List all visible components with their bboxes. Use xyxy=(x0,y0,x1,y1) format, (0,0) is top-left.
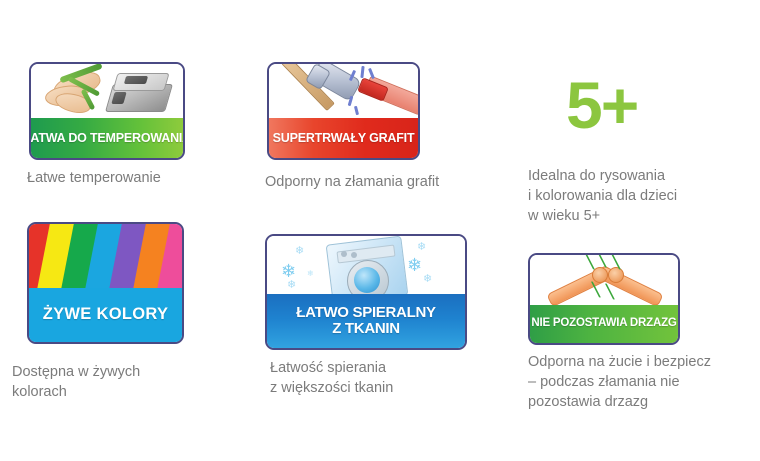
broken-pencil-icon: ╲ ╲ ╲ ╲ ╲ xyxy=(530,255,678,305)
badge-no-splinters: ╲ ╲ ╲ ╲ ╲ NIE POZOSTAWIA DRZAZG xyxy=(528,253,680,345)
caption-easy-sharpening: Łatwe temperowanie xyxy=(27,168,161,188)
badge-band: NIE POZOSTAWIA DRZAZG xyxy=(530,305,678,343)
badge-band: SUPERTRWAŁY GRAFIT xyxy=(269,118,418,158)
feature-badges-panel: ŁATWA DO TEMPEROWANIA Łatwe temperowanie… xyxy=(0,0,760,461)
badge-vivid-colors: ŻYWE KOLORY xyxy=(27,222,184,344)
caption-washable-from-fabric: Łatwość spierania z większości tkanin xyxy=(270,358,393,398)
badge-band: ŁATWA DO TEMPEROWANIA xyxy=(31,118,183,158)
age-5-plus-icon: 5+ xyxy=(566,72,637,138)
caption-vivid-colors: Dostępna w żywych kolorach xyxy=(12,362,140,402)
badge-band: ŁATWO SPIERALNY Z TKANIN xyxy=(267,294,465,348)
badge-band-label-line2: Z TKANIN xyxy=(332,321,400,337)
caption-no-splinters: Odporna na żucie i bezpiecz – podczas zł… xyxy=(528,352,711,412)
rainbow-stripes-icon xyxy=(29,224,182,292)
badge-band-label: ŻYWE KOLORY xyxy=(43,306,169,323)
hammer-pencil-icon xyxy=(269,64,418,122)
badge-break-resistant-graphite: SUPERTRWAŁY GRAFIT xyxy=(267,62,420,160)
badge-band-label: ŁATWA DO TEMPEROWANIA xyxy=(29,132,185,145)
caption-age-recommendation: Idealna do rysowania i kolorowania dla d… xyxy=(528,166,677,226)
pencil-sharpener-icon xyxy=(31,64,183,122)
badge-band-label-line1: ŁATWO SPIERALNY xyxy=(296,305,435,321)
badge-band-label: NIE POZOSTAWIA DRZAZG xyxy=(531,318,676,330)
badge-easy-sharpening: ŁATWA DO TEMPEROWANIA xyxy=(29,62,185,160)
badge-band-label: SUPERTRWAŁY GRAFIT xyxy=(273,132,415,145)
caption-break-resistant-graphite: Odporny na złamania grafit xyxy=(265,172,439,192)
badge-band: ŻYWE KOLORY xyxy=(29,288,182,342)
badge-washable-from-fabric: ❄ ❄ ❄ ❄ ❄ ❄ ❄ ❄ ŁATWO SPIERALNY Z TKANIN xyxy=(265,234,467,350)
washing-machine-icon: ❄ ❄ ❄ ❄ ❄ ❄ ❄ ❄ xyxy=(267,236,465,298)
